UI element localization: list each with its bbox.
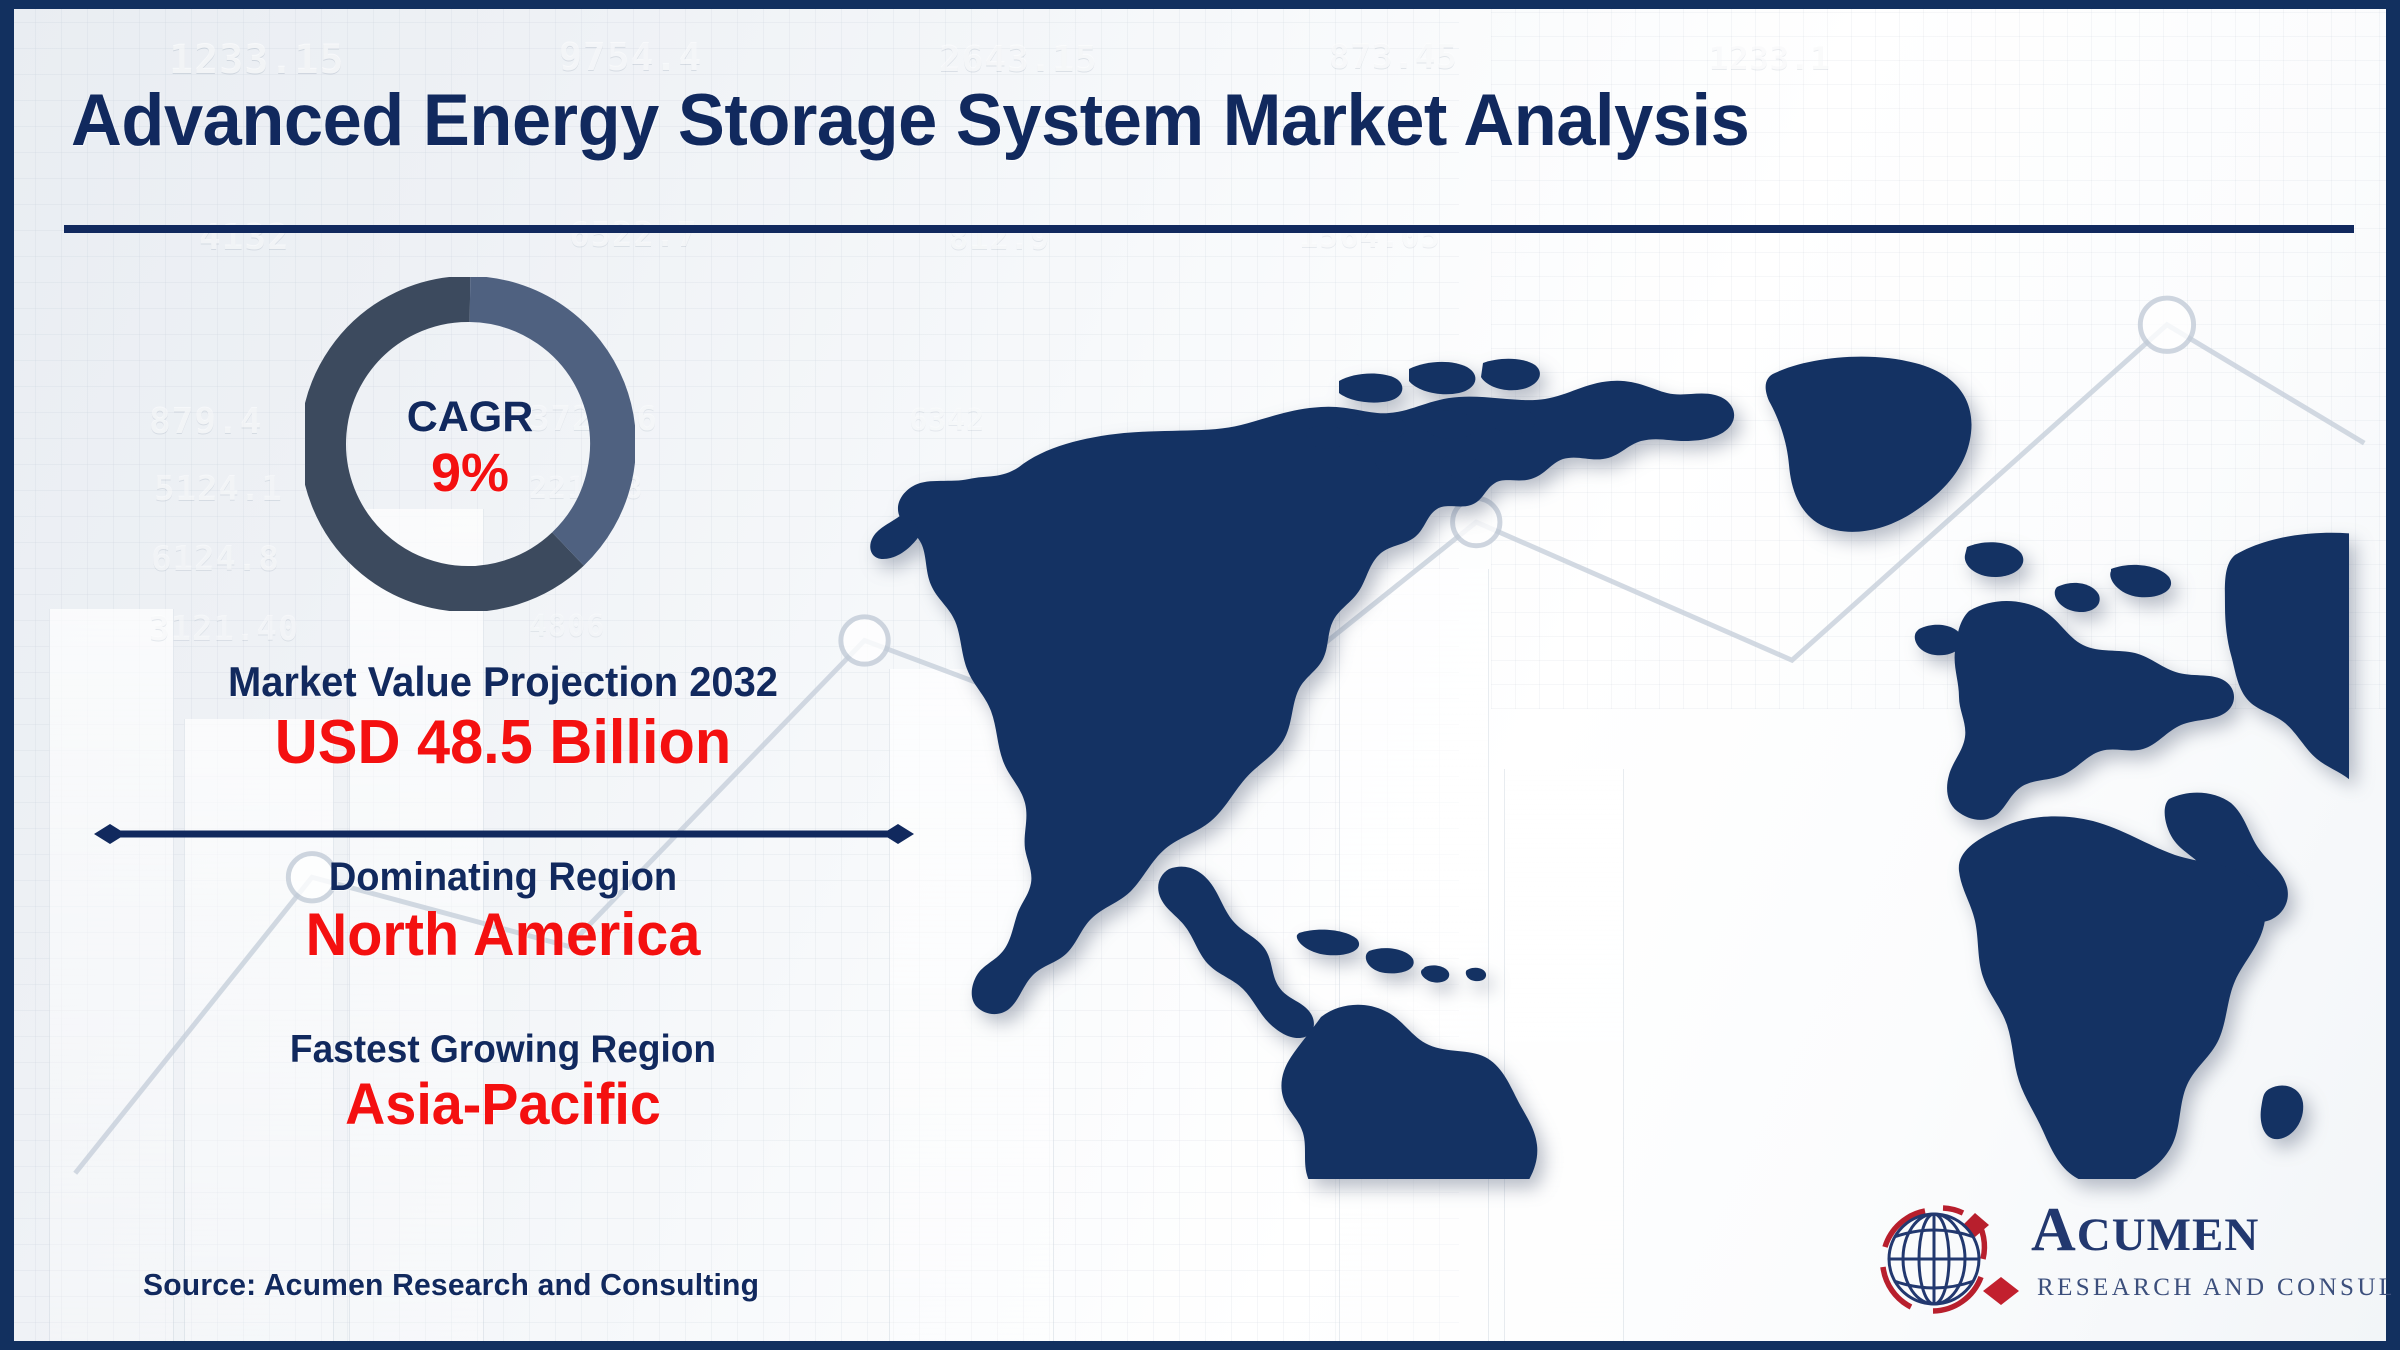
ghost-number: 5124.1 bbox=[154, 469, 283, 509]
stat-value: USD 48.5 Billion bbox=[96, 710, 910, 777]
ghost-number: 9754.4 bbox=[559, 35, 702, 79]
ghost-number: 873.45 bbox=[1329, 37, 1458, 77]
logo-tagline: RESEARCH AND CONSULTING bbox=[2037, 1275, 2400, 1300]
logo-wordmark: ACUMEN bbox=[2031, 1199, 2259, 1261]
infographic-canvas: 1233.159754.42643.15873.451233.141326522… bbox=[0, 0, 2400, 1350]
page-title: Advanced Energy Storage System Market An… bbox=[71, 84, 2262, 157]
stat-value: North America bbox=[96, 903, 910, 968]
title-underline bbox=[64, 225, 2354, 233]
stat-label: Market Value Projection 2032 bbox=[100, 659, 906, 705]
ghost-number: 1233.15 bbox=[169, 37, 345, 83]
ghost-number: 879.4 bbox=[149, 401, 262, 442]
frame-rail-left bbox=[9, 9, 14, 1341]
stat-market-value-projection: Market Value Projection 2032 USD 48.5 Bi… bbox=[79, 659, 927, 777]
stat-label: Dominating Region bbox=[100, 855, 906, 899]
stat-value: Asia-Pacific bbox=[96, 1074, 910, 1137]
stat-dominating-region: Dominating Region North America bbox=[79, 855, 927, 968]
logo-name-rest: CUMEN bbox=[2077, 1209, 2260, 1261]
world-map bbox=[869, 329, 2349, 1179]
ghost-number: 4132 bbox=[199, 217, 290, 258]
stat-fastest-growing-region: Fastest Growing Region Asia-Pacific bbox=[79, 1029, 927, 1137]
donut-label: CAGR bbox=[305, 395, 635, 440]
ghost-number: 4806 bbox=[529, 609, 605, 644]
ghost-number: 6124.8 bbox=[151, 539, 280, 579]
source-attribution: Source: Acumen Research and Consulting bbox=[143, 1267, 759, 1303]
ghost-number: 3121.40 bbox=[149, 609, 299, 649]
donut-value: 9% bbox=[305, 445, 635, 502]
ghost-number: 1233.1 bbox=[1709, 39, 1831, 77]
arrow-divider bbox=[94, 821, 914, 847]
cagr-donut-chart: CAGR 9% bbox=[305, 277, 635, 611]
stat-label: Fastest Growing Region bbox=[100, 1029, 906, 1072]
world-map-svg bbox=[869, 329, 2349, 1179]
ghost-number: 1564.05 bbox=[1299, 217, 1441, 255]
ghost-number: 6522.7 bbox=[569, 215, 698, 255]
frame-rail-right bbox=[2386, 9, 2391, 1341]
ghost-number: 2643.15 bbox=[939, 39, 1098, 80]
acumen-logo: ACUMEN RESEARCH AND CONSULTING bbox=[1871, 1195, 2341, 1327]
logo-name-initial: A bbox=[2031, 1196, 2077, 1264]
globe-icon bbox=[1871, 1195, 2041, 1327]
